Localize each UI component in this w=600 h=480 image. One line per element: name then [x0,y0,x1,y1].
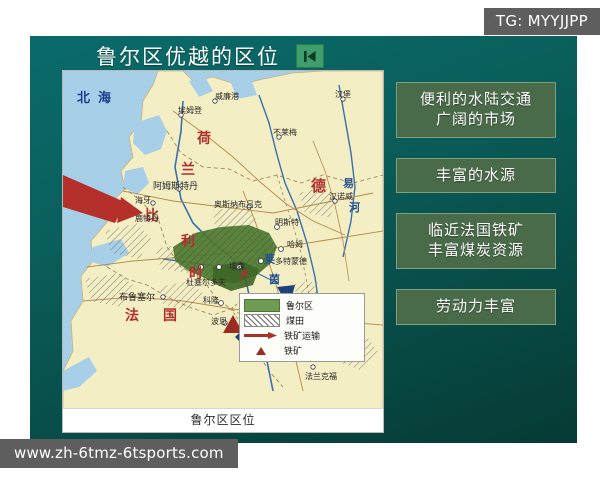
ruhr-area-swatch [244,299,280,312]
info-box-labor[interactable]: 劳动力丰富 [396,289,556,325]
legend-label: 铁矿 [284,344,302,357]
coalfield-hatch-swatch [244,314,280,327]
legend-row: 铁矿运输 [244,328,360,343]
slide-title-row: 鲁尔区优越的区位 [30,40,390,72]
info-box-transport-market[interactable]: 便利的水陆交通 广阔的市场 [396,82,556,138]
legend-label: 鲁尔区 [286,299,313,312]
info-box-line: 临近法国铁矿 [401,221,551,241]
iron-ore-triangle-icon [244,345,278,356]
map-figure: 北海荷兰比利时法国卢德国易河莱茵河威廉港埃姆登不莱梅汉堡汉诺威奥斯纳布吕克阿姆斯… [62,70,384,433]
presentation-slide: 鲁尔区优越的区位 [30,36,577,443]
page-title: 鲁尔区优越的区位 [96,41,280,71]
legend-row: 鲁尔区 [244,298,360,313]
legend-label: 铁矿运输 [284,329,320,342]
info-box-line: 丰富的水源 [401,166,551,186]
slide-screenshot: 鲁尔区优越的区位 [0,0,600,480]
info-box-line: 丰富煤炭资源 [401,241,551,261]
legend-row: 铁矿 [244,343,360,358]
legend-row: 煤田 [244,313,360,328]
skip-to-start-icon[interactable] [296,44,324,68]
info-box-line: 便利的水陆交通 [401,90,551,110]
url-watermark: www.zh-6tmz-6tsports.com [0,439,238,468]
telegram-watermark: TG: MYYJJPP [484,8,600,35]
legend-label: 煤田 [286,314,304,327]
map-caption: 鲁尔区区位 [63,408,383,432]
info-box-iron-coal[interactable]: 临近法国铁矿 丰富煤炭资源 [396,213,556,269]
info-box-line: 广阔的市场 [401,110,551,130]
info-box-column: 便利的水陆交通 广阔的市场 丰富的水源 临近法国铁矿 丰富煤炭资源 劳动力丰富 [396,82,556,345]
map-legend: 鲁尔区 煤田 铁矿运输 [239,293,365,362]
info-box-line: 劳动力丰富 [401,297,551,317]
info-box-water[interactable]: 丰富的水源 [396,158,556,194]
iron-transport-arrow-icon [244,331,278,340]
